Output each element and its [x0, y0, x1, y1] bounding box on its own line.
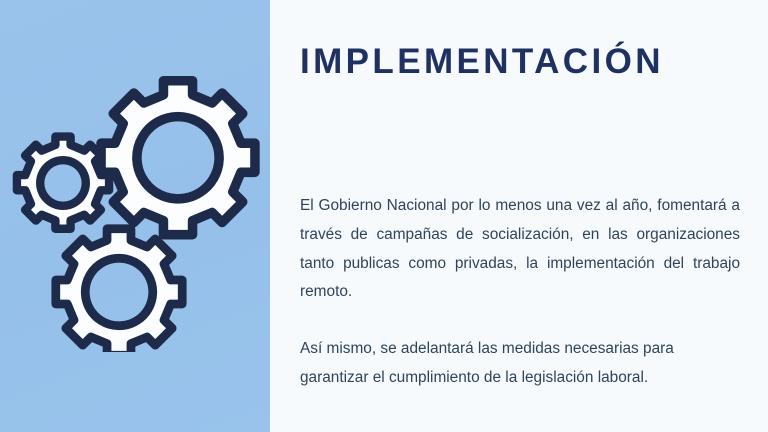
large-gear-icon [101, 81, 255, 235]
slide-root: IMPLEMENTACIÓN El Gobierno Nacional por … [0, 0, 768, 432]
right-content-panel: IMPLEMENTACIÓN El Gobierno Nacional por … [270, 0, 768, 432]
medium-gear-icon [56, 229, 182, 352]
body-text-block: El Gobierno Nacional por lo menos una ve… [300, 192, 740, 393]
body-paragraph-1: El Gobierno Nacional por lo menos una ve… [300, 192, 740, 307]
left-decorative-panel [0, 0, 270, 432]
page-title: IMPLEMENTACIÓN [300, 42, 752, 82]
gears-svg [6, 62, 270, 352]
body-paragraph-2: Así mismo, se adelantará las medidas nec… [300, 335, 740, 393]
small-gear-icon [17, 137, 109, 229]
gears-illustration [0, 0, 270, 432]
